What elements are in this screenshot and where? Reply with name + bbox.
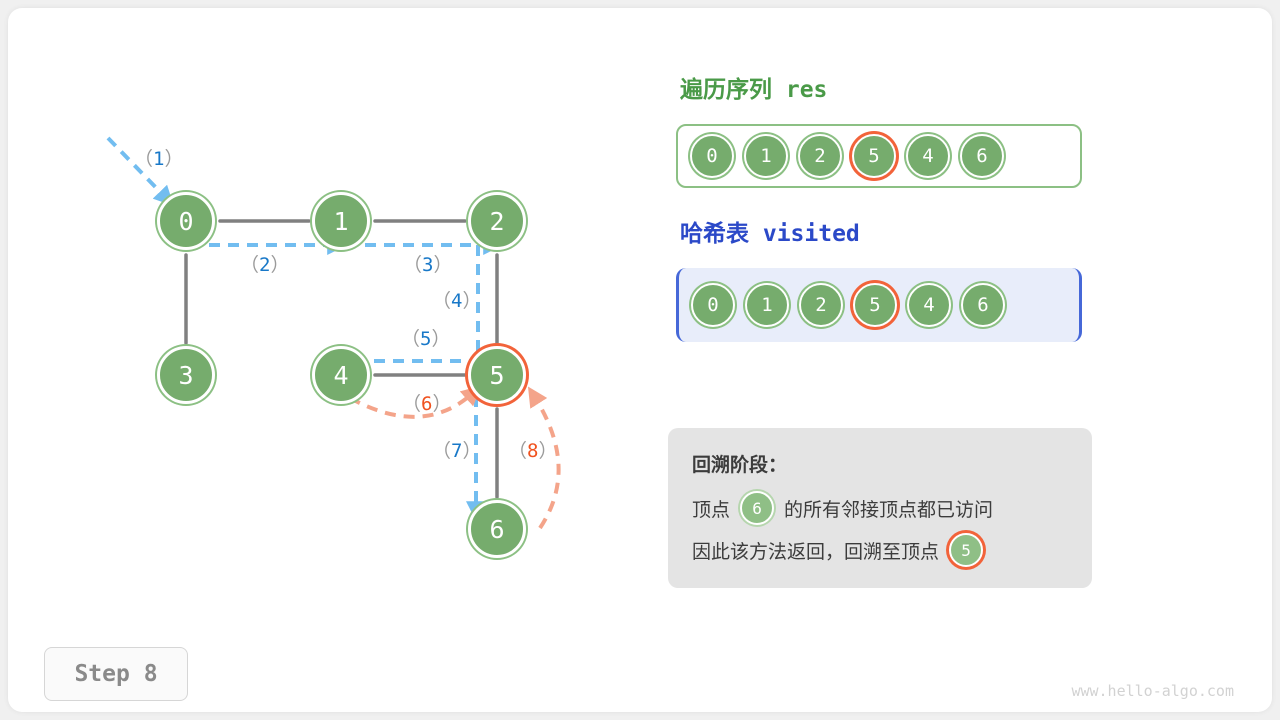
visited-container: 012546 (676, 268, 1082, 342)
res-cell-0: 0 (690, 134, 734, 178)
res-cell-3: 5 (852, 134, 896, 178)
graph-node-2: 2 (468, 192, 526, 250)
info-line-1: 顶点 6 的所有邻接顶点都已访问 (692, 491, 1068, 525)
graph-node-1: 1 (312, 192, 370, 250)
page-card: 0123456 （1）（2）（3）（4）（5）（6）（7）（8） 遍历序列 re… (8, 8, 1272, 712)
res-cell-2: 2 (798, 134, 842, 178)
info-line1-before: 顶点 (692, 495, 730, 522)
res-container: 012546 (676, 124, 1082, 188)
visited-cell-2: 2 (799, 283, 843, 327)
visited-cell-3: 5 (853, 283, 897, 327)
graph-node-4: 4 (312, 346, 370, 404)
step-label-7: （7） (432, 436, 481, 463)
info-heading: 回溯阶段： (692, 450, 1068, 477)
visited-cell-1: 1 (745, 283, 789, 327)
step-label-4: （4） (432, 286, 481, 313)
visited-title: 哈希表 visited (680, 214, 860, 248)
res-cell-1: 1 (744, 134, 788, 178)
step-label-3: （3） (403, 250, 452, 277)
step-label-1: （1） (134, 144, 183, 171)
info-line1-after: 的所有邻接顶点都已访问 (784, 495, 993, 522)
info-line-2: 因此该方法返回，回溯至顶点 5 (692, 533, 1068, 567)
visited-cell-0: 0 (691, 283, 735, 327)
visited-cell-5: 6 (961, 283, 1005, 327)
step-badge: Step 8 (44, 647, 188, 701)
step-label-8: （8） (508, 436, 557, 463)
step-label-6: （6） (402, 389, 451, 416)
graph-node-6: 6 (468, 500, 526, 558)
backtrack-info-box: 回溯阶段： 顶点 6 的所有邻接顶点都已访问 因此该方法返回，回溯至顶点 5 (668, 428, 1092, 588)
res-cell-4: 4 (906, 134, 950, 178)
graph-node-3: 3 (157, 346, 215, 404)
res-title: 遍历序列 res (680, 70, 827, 104)
graph-node-0: 0 (157, 192, 215, 250)
visited-cell-4: 4 (907, 283, 951, 327)
graph-node-5: 5 (468, 346, 526, 404)
info-node-5: 5 (949, 533, 983, 567)
info-line2-before: 因此该方法返回，回溯至顶点 (692, 537, 939, 564)
step-label-2: （2） (240, 250, 289, 277)
watermark: www.hello-algo.com (1071, 682, 1234, 700)
step-label-5: （5） (401, 324, 450, 351)
info-node-6: 6 (740, 491, 774, 525)
res-cell-5: 6 (960, 134, 1004, 178)
